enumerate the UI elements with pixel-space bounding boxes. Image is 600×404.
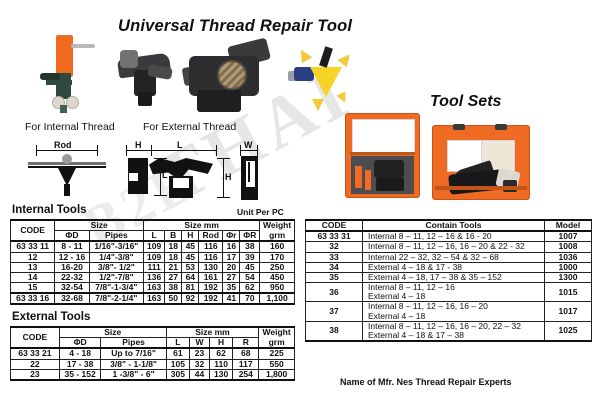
unit-note: Unit Per PC bbox=[237, 207, 284, 217]
table-row: 15 32-54 7/8"-1-3/4" 163 38 81 192 35 62… bbox=[11, 283, 295, 294]
cell-code: 14 bbox=[11, 272, 55, 282]
caption-for-external-thread: For External Thread bbox=[143, 121, 236, 133]
cell-rod: 192 bbox=[199, 283, 223, 294]
th-phi-r: Φr bbox=[223, 231, 240, 242]
cell-phi-R: 39 bbox=[240, 252, 260, 262]
caption-for-internal-thread: For Internal Thread bbox=[25, 121, 115, 133]
cell-phi-d: 12 - 16 bbox=[55, 252, 89, 262]
cell-contain-tools: External 4 – 18 & 17 - 38 bbox=[363, 262, 545, 272]
table-header-row: CODE Size Size mm Weight bbox=[11, 327, 295, 338]
cell-code: 63 33 31 bbox=[306, 231, 363, 242]
cell-h: 81 bbox=[182, 283, 199, 294]
cell-model: 1025 bbox=[545, 321, 592, 341]
contain-tools-line-2: External 4 – 18 & 17 – 38 bbox=[368, 331, 542, 340]
th-w: W bbox=[190, 338, 210, 349]
cell-pipes: 1/4"-3/8" bbox=[89, 252, 143, 262]
cell-h: 64 bbox=[182, 272, 199, 282]
cell-phi-d: 4 - 18 bbox=[59, 348, 101, 359]
cell-w: 32 bbox=[190, 359, 210, 369]
diagram-l-dimension-external: L H bbox=[143, 140, 235, 206]
cell-b: 18 bbox=[165, 252, 182, 262]
cell-l: 109 bbox=[144, 252, 165, 262]
cell-code: 23 bbox=[11, 369, 60, 380]
cell-phi-R: 38 bbox=[240, 241, 260, 252]
section-heading-external-tools: External Tools bbox=[12, 311, 90, 323]
table-row: 23 35 - 152 1 -3/8" - 6" 305 44 130 254 … bbox=[11, 369, 295, 380]
cell-code: 37 bbox=[306, 302, 363, 321]
table-row: 14 22-32 1/2"-7/8" 136 27 64 161 27 54 4… bbox=[11, 272, 295, 282]
product-photo-clamp-tool bbox=[118, 48, 176, 108]
dimension-label-w: W bbox=[244, 140, 253, 150]
tool-sets-body: 63 33 31 Internal 8 – 11, 12 – 16 & 16 -… bbox=[306, 231, 592, 341]
cell-h: 62 bbox=[209, 348, 232, 359]
cell-l: 105 bbox=[166, 359, 189, 369]
table-row: 36 Internal 8 – 11, 12 – 16 External 4 –… bbox=[306, 283, 592, 302]
table-row: 38 Internal 8 – 11, 12 – 16, 16 – 20, 22… bbox=[306, 321, 592, 341]
dimension-label-h: H bbox=[135, 140, 142, 150]
th-h: H bbox=[182, 231, 199, 242]
contain-tools-line-2: External 4 – 18 bbox=[368, 312, 542, 321]
cell-code: 63 33 16 bbox=[11, 293, 55, 304]
cell-code: 35 bbox=[306, 272, 363, 282]
external-tools-table: CODE Size Size mm Weight ΦD Pipes L W H … bbox=[10, 326, 295, 381]
cell-pipes: 3/8"- 1/2" bbox=[89, 262, 143, 272]
cell-pipes: Up to 7/16" bbox=[101, 348, 166, 359]
table-row: 37 Internal 8 – 11, 12 – 16, 16 – 20 Ext… bbox=[306, 302, 592, 321]
cell-phi-d: 16-20 bbox=[55, 262, 89, 272]
cell-weight: 250 bbox=[260, 262, 295, 272]
diagram-w-dimension-external: W bbox=[232, 140, 272, 206]
cell-l: 163 bbox=[144, 283, 165, 294]
cell-model: 1000 bbox=[545, 262, 592, 272]
th-grm: grm bbox=[260, 231, 295, 242]
th-size-mm: Size mm bbox=[166, 327, 259, 338]
product-photo-internal-tool bbox=[38, 33, 98, 113]
cell-rod: 116 bbox=[199, 252, 223, 262]
cell-b: 27 bbox=[165, 272, 182, 282]
cell-code: 12 bbox=[11, 252, 55, 262]
cell-contain-tools: Internal 8 – 11, 12 – 16, 16 – 20 & 22 -… bbox=[363, 242, 545, 252]
cell-h: 45 bbox=[182, 241, 199, 252]
th-phi-d: ΦD bbox=[55, 231, 89, 242]
th-code: CODE bbox=[11, 327, 60, 348]
cell-l: 111 bbox=[144, 262, 165, 272]
cell-contain-tools: Internal 8 – 11, 12 – 16 External 4 – 18 bbox=[363, 283, 545, 302]
cell-code: 15 bbox=[11, 283, 55, 294]
cell-phi-r: 20 bbox=[223, 262, 240, 272]
cell-code: 63 33 11 bbox=[11, 241, 55, 252]
cell-l: 163 bbox=[144, 293, 165, 304]
cell-l: 109 bbox=[144, 241, 165, 252]
product-photo-tool-case-set bbox=[432, 125, 530, 200]
cell-code: 34 bbox=[306, 262, 363, 272]
th-rod: Rod bbox=[199, 231, 223, 242]
cell-model: 1015 bbox=[545, 283, 592, 302]
cell-h: 92 bbox=[182, 293, 199, 304]
cell-phi-d: 17 - 38 bbox=[59, 359, 101, 369]
cell-phi-r: 17 bbox=[223, 252, 240, 262]
cell-phi-d: 35 - 152 bbox=[59, 369, 101, 380]
th-phi-d: ΦD bbox=[59, 338, 101, 349]
th-size: Size bbox=[59, 327, 166, 338]
product-diagram-operation bbox=[288, 45, 356, 111]
cell-l: 136 bbox=[144, 272, 165, 282]
cell-model: 1300 bbox=[545, 272, 592, 282]
product-photo-thread-tool bbox=[183, 42, 273, 114]
cell-phi-R: 62 bbox=[240, 283, 260, 294]
cell-weight: 550 bbox=[259, 359, 295, 369]
diagram-rod-dimension: Rod bbox=[22, 140, 114, 202]
cell-rod: 116 bbox=[199, 241, 223, 252]
cell-code: 33 bbox=[306, 252, 363, 262]
cell-l: 305 bbox=[166, 369, 189, 380]
cell-code: 36 bbox=[306, 283, 363, 302]
cell-rod: 161 bbox=[199, 272, 223, 282]
table-row: 13 16-20 3/8"- 1/2" 111 21 53 130 20 45 … bbox=[11, 262, 295, 272]
cell-b: 21 bbox=[165, 262, 182, 272]
cell-phi-r: 41 bbox=[223, 293, 240, 304]
th-model: Model bbox=[545, 220, 592, 231]
cell-code: 32 bbox=[306, 242, 363, 252]
cell-pipes: 1/2"-7/8" bbox=[89, 272, 143, 282]
cell-pipes: 7/8"-1-3/4" bbox=[89, 283, 143, 294]
cell-h: 130 bbox=[209, 369, 232, 380]
cell-phi-d: 22-32 bbox=[55, 272, 89, 282]
th-grm: grm bbox=[259, 338, 295, 349]
table-row: 63 33 21 4 - 18 Up to 7/16" 61 23 62 68 … bbox=[11, 348, 295, 359]
cell-h: 110 bbox=[209, 359, 232, 369]
cell-contain-tools: Internal 8 – 11, 12 – 16 & 16 - 20 bbox=[363, 231, 545, 242]
table-row: 33 Internal 22 – 32, 32 – 54 & 32 – 68 1… bbox=[306, 252, 592, 262]
dimension-label-rod: Rod bbox=[54, 140, 72, 150]
cell-rod: 192 bbox=[199, 293, 223, 304]
table-row: 34 External 4 – 18 & 17 - 38 1000 bbox=[306, 262, 592, 272]
cell-code: 13 bbox=[11, 262, 55, 272]
th-h: H bbox=[209, 338, 232, 349]
cell-contain-tools: Internal 22 – 32, 32 – 54 & 32 – 68 bbox=[363, 252, 545, 262]
cell-phi-r: 27 bbox=[223, 272, 240, 282]
th-r: R bbox=[233, 338, 259, 349]
th-b: B bbox=[165, 231, 182, 242]
dimension-label-l-top: L bbox=[177, 140, 183, 150]
cell-r: 68 bbox=[233, 348, 259, 359]
internal-tools-table: CODE Size Size mm Weight ΦD Pipes L B H … bbox=[10, 219, 295, 305]
cell-weight: 1,800 bbox=[259, 369, 295, 380]
cell-pipes: 1/16"-3/16" bbox=[89, 241, 143, 252]
cell-b: 38 bbox=[165, 283, 182, 294]
cell-phi-R: 70 bbox=[240, 293, 260, 304]
cell-b: 50 bbox=[165, 293, 182, 304]
cell-h: 53 bbox=[182, 262, 199, 272]
cell-phi-d: 32-54 bbox=[55, 283, 89, 294]
th-phi-R: ΦR bbox=[240, 231, 260, 242]
contain-tools-line-2: External 4 – 18 bbox=[368, 292, 542, 301]
table-row: 32 Internal 8 – 11, 12 – 16, 16 – 20 & 2… bbox=[306, 242, 592, 252]
cell-phi-R: 54 bbox=[240, 272, 260, 282]
table-row: 12 12 - 16 1/4"-3/8" 109 18 45 116 17 39… bbox=[11, 252, 295, 262]
section-heading-internal-tools: Internal Tools bbox=[12, 204, 87, 216]
cell-phi-r: 35 bbox=[223, 283, 240, 294]
cell-pipes: 3/8" - 1-1/8" bbox=[101, 359, 166, 369]
tool-sets-title: Tool Sets bbox=[430, 93, 501, 111]
cell-contain-tools: External 4 – 18, 17 – 38 & 35 – 152 bbox=[363, 272, 545, 282]
cell-weight: 170 bbox=[260, 252, 295, 262]
product-photo-tool-case-open bbox=[345, 113, 420, 198]
cell-code: 63 33 21 bbox=[11, 348, 60, 359]
cell-contain-tools: Internal 8 – 11, 12 – 16, 16 – 20 Extern… bbox=[363, 302, 545, 321]
cell-rod: 130 bbox=[199, 262, 223, 272]
cell-h: 45 bbox=[182, 252, 199, 262]
cell-pipes: 1 -3/8" - 6" bbox=[101, 369, 166, 380]
external-tools-body: 63 33 21 4 - 18 Up to 7/16" 61 23 62 68 … bbox=[11, 348, 295, 380]
cell-weight: 160 bbox=[260, 241, 295, 252]
cell-w: 23 bbox=[190, 348, 210, 359]
th-contain-tools: Contain Tools bbox=[363, 220, 545, 231]
cell-w: 44 bbox=[190, 369, 210, 380]
cell-code: 22 bbox=[11, 359, 60, 369]
cell-b: 18 bbox=[165, 241, 182, 252]
table-row: 35 External 4 – 18, 17 – 38 & 35 – 152 1… bbox=[306, 272, 592, 282]
table-row: 63 33 31 Internal 8 – 11, 12 – 16 & 16 -… bbox=[306, 231, 592, 242]
internal-tools-body: 63 33 11 8 - 11 1/16"-3/16" 109 18 45 11… bbox=[11, 241, 295, 304]
cell-phi-d: 32-68 bbox=[55, 293, 89, 304]
cell-phi-d: 8 - 11 bbox=[55, 241, 89, 252]
table-header-row: CODE Contain Tools Model bbox=[306, 220, 592, 231]
th-code: CODE bbox=[306, 220, 363, 231]
cell-model: 1008 bbox=[545, 242, 592, 252]
th-code: CODE bbox=[11, 220, 55, 241]
cell-phi-R: 45 bbox=[240, 262, 260, 272]
catalog-page: THAI B2B Universal Thread Repair Tool To… bbox=[0, 0, 600, 404]
table-header-row: CODE Size Size mm Weight bbox=[11, 220, 295, 231]
cell-phi-r: 16 bbox=[223, 241, 240, 252]
th-size-mm: Size mm bbox=[144, 220, 260, 231]
cell-model: 1036 bbox=[545, 252, 592, 262]
cell-weight: 950 bbox=[260, 283, 295, 294]
page-title: Universal Thread Repair Tool bbox=[118, 17, 352, 36]
cell-weight: 225 bbox=[259, 348, 295, 359]
table-row: 63 33 11 8 - 11 1/16"-3/16" 109 18 45 11… bbox=[11, 241, 295, 252]
th-pipes: Pipes bbox=[89, 231, 143, 242]
th-l: L bbox=[166, 338, 189, 349]
dimension-label-h-side: H bbox=[225, 172, 232, 182]
tool-sets-table: CODE Contain Tools Model 63 33 31 Intern… bbox=[305, 219, 592, 342]
cell-r: 254 bbox=[233, 369, 259, 380]
cell-contain-tools: Internal 8 – 11, 12 – 16, 16 – 20, 22 – … bbox=[363, 321, 545, 341]
cell-r: 117 bbox=[233, 359, 259, 369]
manufacturer-note: Name of Mfr. Nes Thread Repair Experts bbox=[340, 377, 512, 387]
cell-l: 61 bbox=[166, 348, 189, 359]
th-l: L bbox=[144, 231, 165, 242]
cell-code: 38 bbox=[306, 321, 363, 341]
th-size: Size bbox=[55, 220, 144, 231]
th-pipes: Pipes bbox=[101, 338, 166, 349]
cell-pipes: 7/8"-2-1/4" bbox=[89, 293, 143, 304]
table-row: 22 17 - 38 3/8" - 1-1/8" 105 32 110 117 … bbox=[11, 359, 295, 369]
cell-model: 1017 bbox=[545, 302, 592, 321]
cell-model: 1007 bbox=[545, 231, 592, 242]
cell-weight: 450 bbox=[260, 272, 295, 282]
cell-weight: 1,100 bbox=[260, 293, 295, 304]
table-row: 63 33 16 32-68 7/8"-2-1/4" 163 50 92 192… bbox=[11, 293, 295, 304]
